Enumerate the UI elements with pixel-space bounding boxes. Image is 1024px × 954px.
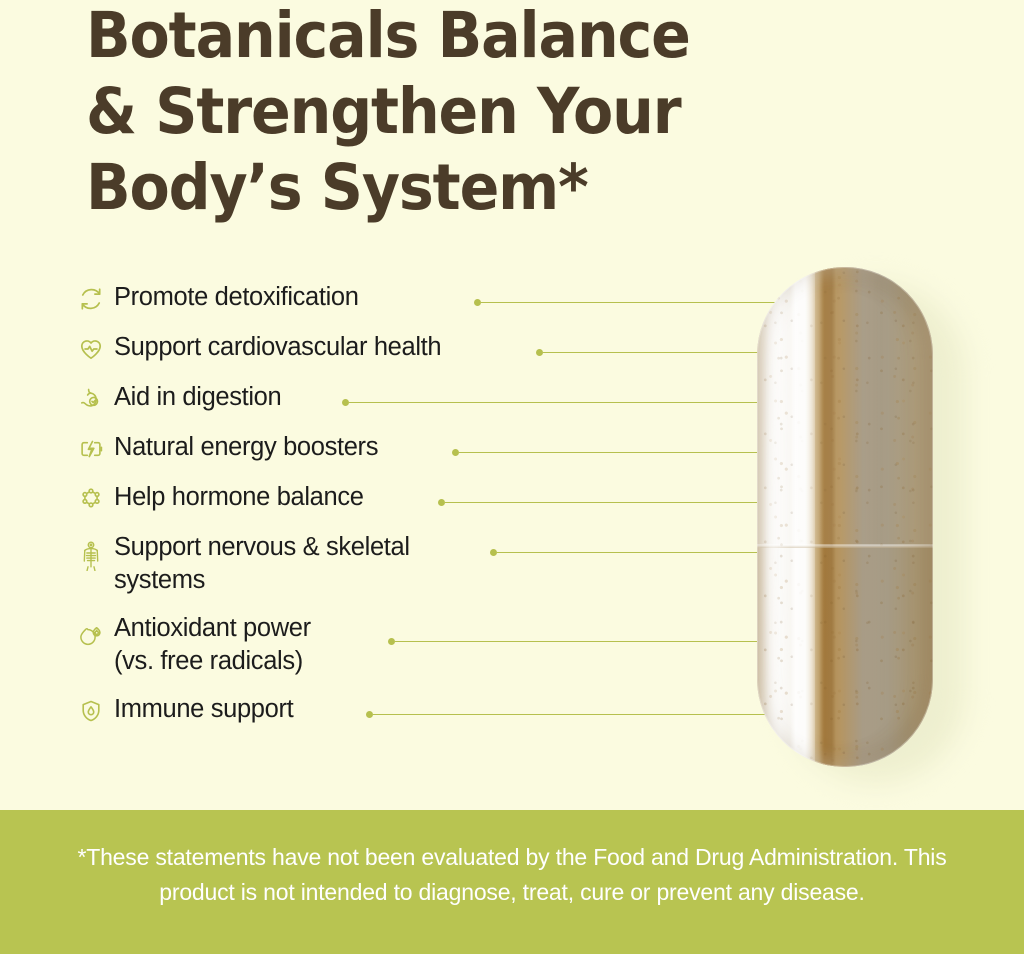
benefit-item-digestion: Aid in digestion <box>74 381 734 416</box>
benefit-label: Immune support <box>108 693 293 726</box>
molecule-hexagon-icon <box>74 482 108 516</box>
connector-line <box>474 298 792 307</box>
benefit-item-antioxidant: Antioxidant power (vs. free radicals) <box>74 612 734 678</box>
page-title: Botanicals Balance & Strengthen Your Bod… <box>86 0 830 226</box>
connector-dot-left <box>366 711 373 718</box>
connector-dot-left <box>536 349 543 356</box>
benefit-label: Natural energy boosters <box>108 431 378 464</box>
connector-line <box>452 448 792 457</box>
connector-dot-left <box>474 299 481 306</box>
connector-dot-left <box>388 638 395 645</box>
benefit-item-immune: Immune support <box>74 693 734 728</box>
connector-rule <box>481 302 785 303</box>
benefit-label: Support cardiovascular health <box>108 331 441 364</box>
benefit-label: Support nervous & skeletal systems <box>108 531 410 597</box>
product-capsule-image <box>757 267 941 779</box>
connector-dot-left <box>490 549 497 556</box>
connector-dot-left <box>342 399 349 406</box>
benefit-item-hormone-balance: Help hormone balance <box>74 481 734 516</box>
infographic-page: Botanicals Balance & Strengthen Your Bod… <box>0 0 1024 954</box>
connector-line <box>388 637 792 646</box>
connector-line <box>438 498 792 507</box>
connector-dot-left <box>452 449 459 456</box>
stomach-check-icon <box>74 382 108 416</box>
capsule-body <box>757 267 933 767</box>
headline-line-2: & Strengthen Your <box>86 74 830 150</box>
benefit-label: Promote detoxification <box>108 281 359 314</box>
benefit-item-detoxification: Promote detoxification <box>74 281 734 316</box>
antioxidant-cell-icon <box>74 620 108 654</box>
connector-line <box>536 348 792 357</box>
connector-line <box>366 710 792 719</box>
connector-line <box>342 398 792 407</box>
benefits-list: Promote detoxification Support cardiovas… <box>74 281 734 743</box>
connector-rule <box>543 352 785 353</box>
shield-droplet-icon <box>74 694 108 728</box>
headline-line-3: Body’s System* <box>86 150 830 226</box>
connector-rule <box>349 402 785 403</box>
battery-bolt-icon <box>74 432 108 466</box>
connector-rule <box>445 502 785 503</box>
benefit-label: Aid in digestion <box>108 381 281 414</box>
connector-line <box>490 548 792 557</box>
benefit-item-energy: Natural energy boosters <box>74 431 734 466</box>
connector-rule <box>373 714 785 715</box>
connector-rule <box>459 452 785 453</box>
benefit-label: Antioxidant power (vs. free radicals) <box>108 612 311 678</box>
connector-rule <box>497 552 785 553</box>
benefit-item-cardiovascular: Support cardiovascular health <box>74 331 734 366</box>
headline-line-1: Botanicals Balance <box>86 0 830 74</box>
recycle-arrows-icon <box>74 282 108 316</box>
skeleton-spine-icon <box>74 539 108 573</box>
heart-pulse-icon <box>74 332 108 366</box>
connector-rule <box>395 641 785 642</box>
disclaimer-text: *These statements have not been evaluate… <box>72 840 952 910</box>
capsule-rim <box>757 267 933 767</box>
disclaimer-band: *These statements have not been evaluate… <box>0 810 1024 954</box>
benefit-item-nervous-skeletal: Support nervous & skeletal systems <box>74 531 734 597</box>
benefit-label: Help hormone balance <box>108 481 364 514</box>
connector-dot-left <box>438 499 445 506</box>
